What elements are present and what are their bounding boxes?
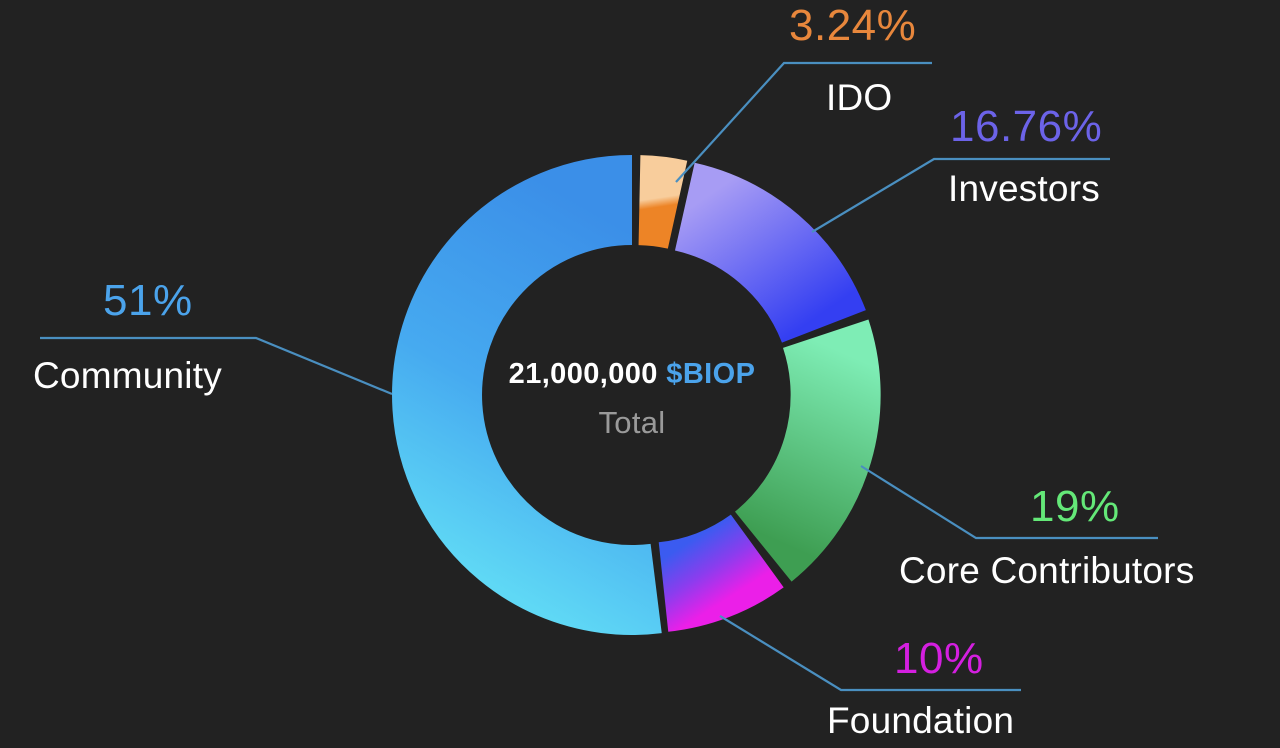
core-contributors-percent: 19% bbox=[1030, 485, 1120, 529]
investors-category: Investors bbox=[948, 170, 1100, 207]
callout-foundation[interactable]: 10% bbox=[894, 637, 984, 681]
center-ticker: $BIOP bbox=[666, 358, 755, 390]
callout-community[interactable]: 51% bbox=[103, 279, 193, 323]
investors-percent: 16.76% bbox=[950, 105, 1102, 149]
leader-line-ido bbox=[676, 63, 932, 182]
foundation-percent: 10% bbox=[894, 637, 984, 681]
core-contributors-category: Core Contributors bbox=[899, 552, 1194, 589]
ido-percent: 3.24% bbox=[789, 4, 916, 48]
center-total-line: 21,000,000 $BIOP bbox=[422, 358, 842, 391]
slice-foundation[interactable] bbox=[664, 551, 758, 587]
callout-core-contributors[interactable]: 19% bbox=[1030, 485, 1120, 529]
community-percent: 51% bbox=[103, 279, 193, 323]
ido-category: IDO bbox=[826, 79, 892, 116]
callout-investors-label[interactable]: Investors bbox=[948, 170, 1100, 207]
callout-community-label[interactable]: Community bbox=[33, 357, 222, 394]
slice-ido[interactable] bbox=[639, 200, 677, 205]
center-subtitle: Total bbox=[422, 405, 842, 441]
callout-investors[interactable]: 16.76% bbox=[950, 105, 1102, 149]
community-category: Community bbox=[33, 357, 222, 394]
callout-ido[interactable]: 3.24% bbox=[789, 4, 916, 48]
foundation-category: Foundation bbox=[827, 702, 1014, 739]
tokenomics-donut-chart: 21,000,000 $BIOP Total 3.24% IDO 16.76% … bbox=[0, 0, 1280, 748]
callout-ido-label[interactable]: IDO bbox=[826, 79, 892, 116]
center-amount: 21,000,000 bbox=[509, 358, 658, 390]
callout-foundation-label[interactable]: Foundation bbox=[827, 702, 1014, 739]
callout-core-contributors-label[interactable]: Core Contributors bbox=[899, 552, 1194, 589]
donut-center-text: 21,000,000 $BIOP Total bbox=[422, 358, 842, 441]
slice-investors[interactable] bbox=[685, 207, 824, 327]
